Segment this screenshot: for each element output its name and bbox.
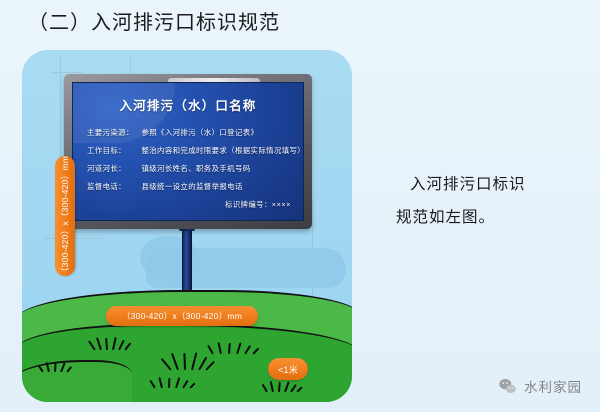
body-text-line-1: 入河排污口标识 xyxy=(396,168,586,201)
illustration-card: 入河排污（水）口名称 主要污染源： 参照《入河排污（水）口登记表》 工作目标： … xyxy=(22,50,352,402)
sign-row-pollution-source: 主要污染源： 参照《入河排污（水）口登记表》 xyxy=(87,127,293,138)
grass-tuft xyxy=(266,381,302,392)
row-value: 县级统一设立的监督举报电话 xyxy=(141,181,242,192)
row-value: 参照《入河排污（水）口登记表》 xyxy=(141,127,258,138)
dimension-label-height: （300-420）x（300-420）mm xyxy=(55,156,75,276)
sign-board-serial: 标识牌编号：×××× xyxy=(225,200,291,210)
sign-row-work-goal: 工作目标： 整治内容和完成时限要求（根据实际情况填写） xyxy=(87,145,293,156)
sign-board-title: 入河排污（水）口名称 xyxy=(73,95,303,114)
grass-tuft xyxy=(212,342,258,354)
grass-tuft xyxy=(154,377,196,388)
body-text: 入河排污口标识 规范如左图。 xyxy=(396,168,586,234)
grass-tuft xyxy=(42,362,72,372)
dimension-label-pole-height: <1米 xyxy=(268,358,308,380)
sign-row-supervision-phone: 监督电话： 县级统一设立的监督举报电话 xyxy=(87,181,293,192)
sign-row-river-chief: 河道河长： 镇级河长姓名、职务及手机号码 xyxy=(87,163,293,174)
watermark: 水利家园 xyxy=(498,376,582,396)
page-background: （二）入河排污口标识规范 xyxy=(0,0,600,412)
body-text-line-2: 规范如左图。 xyxy=(396,201,586,234)
watermark-label: 水利家园 xyxy=(524,376,582,396)
grass-tuft xyxy=(170,352,210,370)
row-label: 主要污染源： xyxy=(87,127,139,138)
row-label: 监督电话： xyxy=(87,181,139,192)
grass-tuft xyxy=(94,337,128,350)
row-value: 镇级河长姓名、职务及手机号码 xyxy=(141,163,250,174)
row-value: 整治内容和完成时限要求（根据实际情况填写） xyxy=(141,145,304,156)
dimension-label-width: （300-420）x（300-420）mm xyxy=(106,306,258,326)
dimension-label-height-wrapper: （300-420）x（300-420）mm xyxy=(22,146,115,166)
wechat-icon xyxy=(498,377,517,396)
page-title: （二）入河排污口标识规范 xyxy=(28,8,280,38)
guide-line-horizontal-top xyxy=(52,72,82,73)
